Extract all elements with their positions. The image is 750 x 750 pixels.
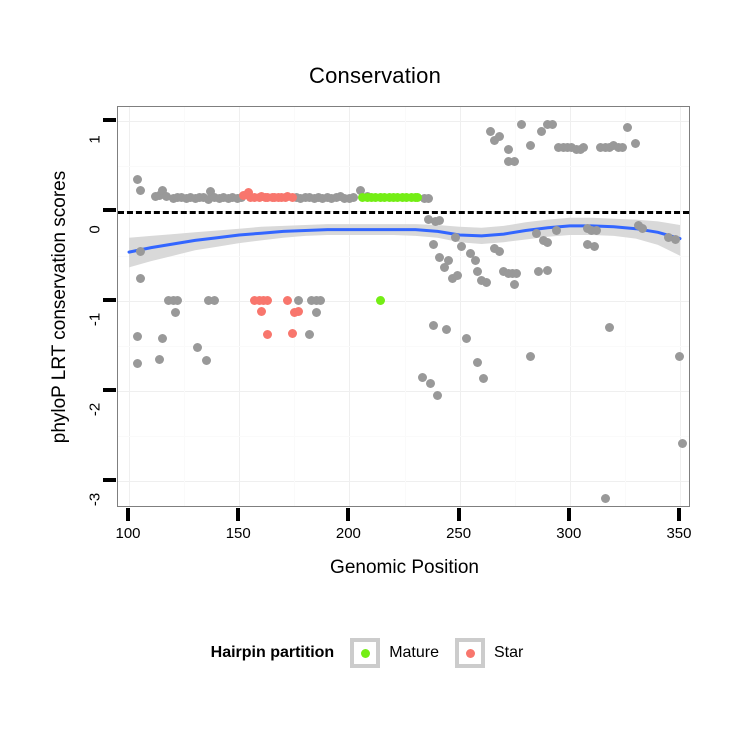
data-point-other (133, 175, 142, 184)
data-point-other (136, 186, 145, 195)
x-tick-label: 200 (318, 525, 378, 542)
data-point-other (429, 240, 438, 249)
y-tick (103, 478, 116, 482)
x-tick (567, 508, 571, 521)
data-point-other (543, 238, 552, 247)
data-point-other (504, 145, 513, 154)
data-point-other (202, 356, 211, 365)
data-point-star (288, 329, 297, 338)
legend: Hairpin partition Mature Star (0, 638, 750, 668)
legend-title: Hairpin partition (211, 644, 335, 662)
data-point-other (433, 391, 442, 400)
plot-panel (117, 106, 690, 507)
reference-line-zero (118, 211, 689, 214)
page-title: Conservation (0, 63, 750, 89)
data-point-other (623, 123, 632, 132)
y-tick-label: -1 (87, 299, 104, 339)
x-tick-label: 350 (649, 525, 709, 542)
data-point-star (257, 307, 266, 316)
data-point-other (543, 266, 552, 275)
x-tick-label: 250 (429, 525, 489, 542)
star-dot-icon (466, 649, 475, 658)
x-axis-title: Genomic Position (117, 557, 692, 579)
x-tick-label: 100 (98, 525, 158, 542)
data-point-other (548, 120, 557, 129)
chart-root: Conservation phyloP LRT conservation sco… (0, 0, 750, 750)
data-point-mature (376, 296, 385, 305)
legend-item-star[interactable]: Star (455, 638, 523, 668)
data-point-other (462, 334, 471, 343)
loess-smooth-layer (118, 107, 690, 507)
y-tick (103, 388, 116, 392)
data-point-other (495, 132, 504, 141)
y-tick-label: 1 (87, 119, 104, 159)
data-point-other (440, 263, 449, 272)
data-point-other (442, 325, 451, 334)
y-tick (103, 208, 116, 212)
x-tick (457, 508, 461, 521)
data-point-other (526, 141, 535, 150)
data-point-other (451, 233, 460, 242)
data-point-other (590, 242, 599, 251)
x-tick (346, 508, 350, 521)
data-point-other (136, 274, 145, 283)
x-tick (677, 508, 681, 521)
x-tick-label: 150 (208, 525, 268, 542)
x-tick (126, 508, 130, 521)
data-point-other (453, 271, 462, 280)
y-tick-label: 0 (87, 209, 104, 249)
y-tick-label: -2 (87, 389, 104, 429)
legend-item-mature[interactable]: Mature (350, 638, 439, 668)
data-point-other (579, 143, 588, 152)
data-point-other (418, 373, 427, 382)
legend-label-star: Star (494, 644, 523, 662)
data-point-other (526, 352, 535, 361)
legend-label-mature: Mature (389, 644, 439, 662)
data-point-other (552, 226, 561, 235)
data-point-other (517, 120, 526, 129)
data-point-mature (413, 193, 422, 202)
data-point-other (495, 247, 504, 256)
x-tick (236, 508, 240, 521)
data-point-other (312, 308, 321, 317)
mature-dot-icon (361, 649, 370, 658)
data-point-other (473, 358, 482, 367)
plot-area (118, 107, 689, 506)
y-axis-title: phyloP LRT conservation scores (49, 57, 71, 557)
data-point-star (288, 193, 297, 202)
y-tick (103, 118, 116, 122)
y-tick (103, 298, 116, 302)
data-point-other (486, 127, 495, 136)
mature-key (350, 638, 380, 668)
data-point-other (678, 439, 687, 448)
data-point-other (482, 278, 491, 287)
data-point-other (471, 256, 480, 265)
data-point-other (171, 308, 180, 317)
data-point-other (158, 334, 167, 343)
data-point-other (193, 343, 202, 352)
data-point-other (136, 247, 145, 256)
star-key (455, 638, 485, 668)
y-tick-label: -3 (87, 479, 104, 519)
data-point-other (671, 235, 680, 244)
x-tick-label: 300 (539, 525, 599, 542)
data-point-star (263, 330, 272, 339)
data-point-other (592, 226, 601, 235)
